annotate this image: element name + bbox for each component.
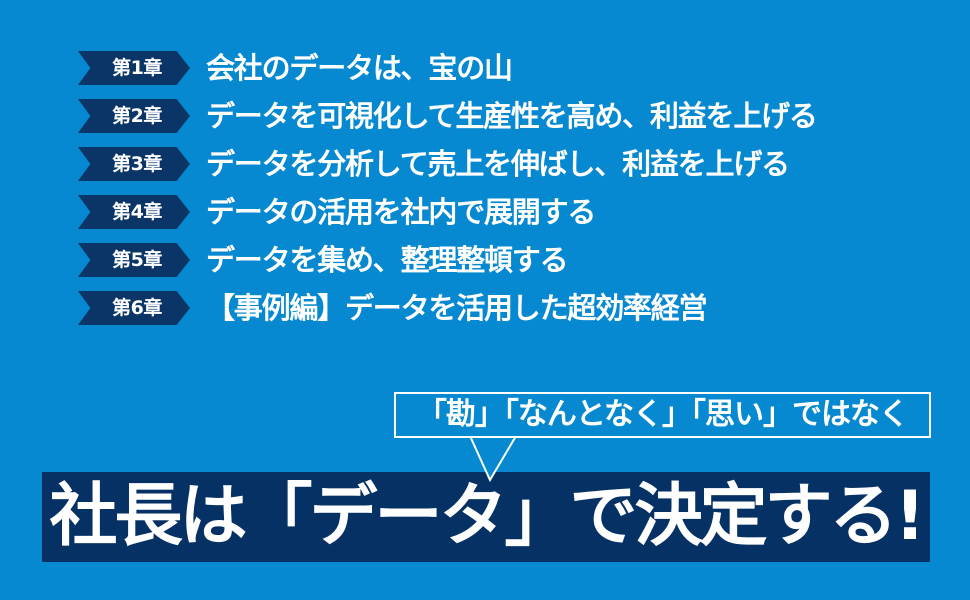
chapter-badge-label: 第4章: [106, 203, 162, 222]
chapter-row: 第1章 会社のデータは、宝の山: [0, 48, 970, 88]
chapter-row: 第5章 データを集め、整理整頓する: [0, 240, 970, 280]
chapter-badge-3: 第3章: [78, 147, 190, 181]
callout-bubble: 「勘」「なんとなく」「思い」ではなく: [394, 392, 931, 438]
chapter-title: データの活用を社内で展開する: [206, 198, 595, 227]
chapter-list: 第1章 会社のデータは、宝の山 第2章 データを可視化して生産性を高め、利益を上…: [0, 48, 970, 336]
chapter-title: データを分析して売上を伸ばし、利益を上げる: [206, 150, 789, 179]
chapter-title: データを可視化して生産性を高め、利益を上げる: [206, 102, 817, 131]
chapter-badge-label: 第3章: [106, 155, 162, 174]
chapter-row: 第3章 データを分析して売上を伸ばし、利益を上げる: [0, 144, 970, 184]
chapter-row: 第4章 データの活用を社内で展開する: [0, 192, 970, 232]
chapter-badge-label: 第5章: [106, 251, 162, 270]
chapter-title: 【事例編】データを活用した超効率経営: [206, 294, 706, 323]
chapter-badge-label: 第1章: [106, 59, 162, 78]
headline-text: 社長は「データ」で決定する!: [49, 483, 922, 551]
chapter-row: 第6章 【事例編】データを活用した超効率経営: [0, 288, 970, 328]
chapter-badge-label: 第6章: [106, 299, 162, 318]
chapter-title: データを集め、整理整頓する: [206, 246, 567, 275]
chapter-badge-1: 第1章: [78, 51, 190, 85]
callout-text: 「勘」「なんとなく」「思い」ではなく: [417, 400, 908, 430]
poster-root: 第1章 会社のデータは、宝の山 第2章 データを可視化して生産性を高め、利益を上…: [0, 0, 970, 600]
chapter-badge-6: 第6章: [78, 291, 190, 325]
chapter-badge-5: 第5章: [78, 243, 190, 277]
speech-bubble-tail-icon: [470, 436, 590, 484]
chapter-badge-label: 第2章: [106, 107, 162, 126]
chapter-badge-4: 第4章: [78, 195, 190, 229]
chapter-title: 会社のデータは、宝の山: [206, 54, 512, 83]
headline-band: 社長は「データ」で決定する!: [42, 472, 930, 562]
chapter-badge-2: 第2章: [78, 99, 190, 133]
chapter-row: 第2章 データを可視化して生産性を高め、利益を上げる: [0, 96, 970, 136]
